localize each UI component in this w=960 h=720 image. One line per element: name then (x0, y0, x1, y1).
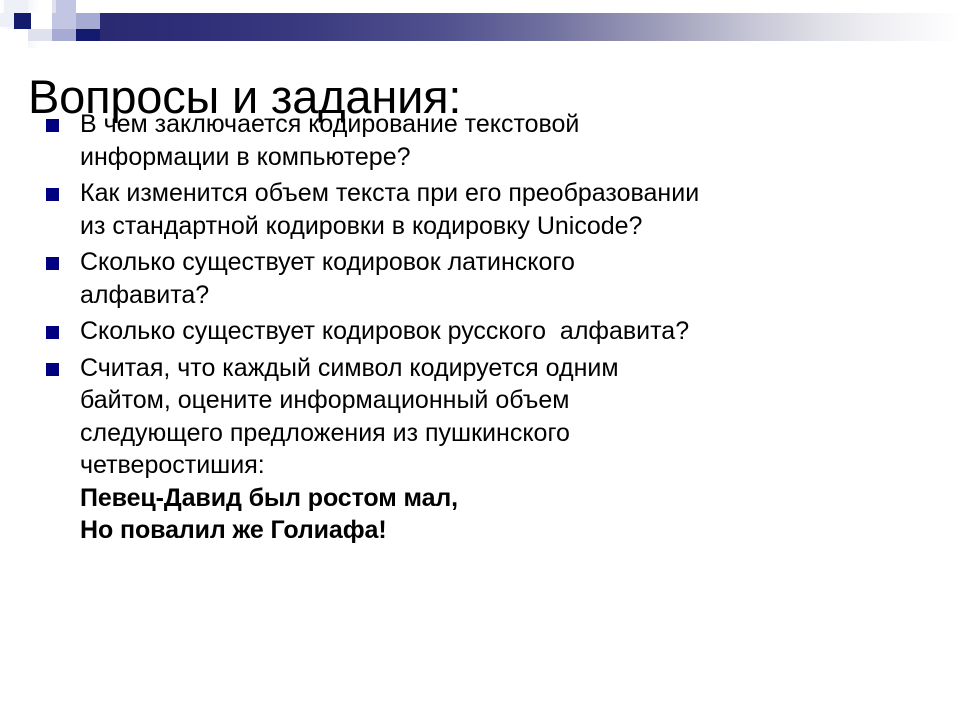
list-item-line: Как изменится объем текста при его преоб… (80, 177, 932, 210)
square-bullet-icon (46, 188, 59, 201)
mosaic-tile-accent-square (14, 13, 31, 29)
list-item-line: Считая, что каждый символ кодируется одн… (80, 352, 932, 385)
mosaic-tile-peri-low (52, 29, 76, 41)
list-item: Сколько существует кодировок латинского … (42, 246, 932, 311)
list-item-line: Сколько существует кодировок русского ал… (80, 315, 932, 348)
list-item-line: Сколько существует кодировок латинского (80, 246, 932, 279)
mosaic-tile-faint-3 (0, 13, 14, 27)
square-bullet-icon (46, 257, 59, 270)
list-item-line: В чем заключается кодирование текстовой (80, 108, 932, 141)
square-bullet-icon (46, 119, 59, 132)
list-item-line: алфавита? (80, 279, 932, 312)
list-item-line: из стандартной кодировки в кодировку Uni… (80, 210, 932, 243)
list-item: В чем заключается кодирование текстовой … (42, 108, 932, 173)
mosaic-tile-faint-2 (16, 0, 28, 13)
list-item-line: следующего предложения из пушкинского (80, 417, 932, 450)
mosaic-tile-pale-low (28, 29, 52, 41)
mosaic-tile-peri-mid (52, 13, 76, 29)
mosaic-tile-navy-low (76, 29, 100, 41)
square-bullet-icon (46, 326, 59, 339)
mosaic-tile-peri-top (56, 0, 76, 13)
square-bullet-icon (46, 363, 59, 376)
list-item: Как изменится объем текста при его преоб… (42, 177, 932, 242)
questions-list: В чем заключается кодирование текстовой … (42, 108, 932, 551)
mosaic-tile-white-2 (0, 29, 28, 48)
list-item: Считая, что каждый символ кодируется одн… (42, 352, 932, 547)
mosaic-tile-faint-1 (4, 0, 16, 13)
list-item-line: четверостишия: (80, 449, 932, 482)
header-decoration-band (0, 0, 960, 48)
verse-line: Но повалил же Голиафа! (80, 514, 932, 547)
header-gradient-bar (100, 13, 960, 41)
mosaic-tile-white-1 (31, 13, 52, 29)
list-item-line: информации в компьютере? (80, 141, 932, 174)
list-item-line: байтом, оцените информационный объем (80, 384, 932, 417)
list-item: Сколько существует кодировок русского ал… (42, 315, 932, 348)
slide-canvas: Вопросы и задания: В чем заключается код… (0, 0, 960, 720)
verse-line: Певец-Давид был ростом мал, (80, 482, 932, 515)
mosaic-tile-peri-mid-2 (76, 13, 100, 29)
